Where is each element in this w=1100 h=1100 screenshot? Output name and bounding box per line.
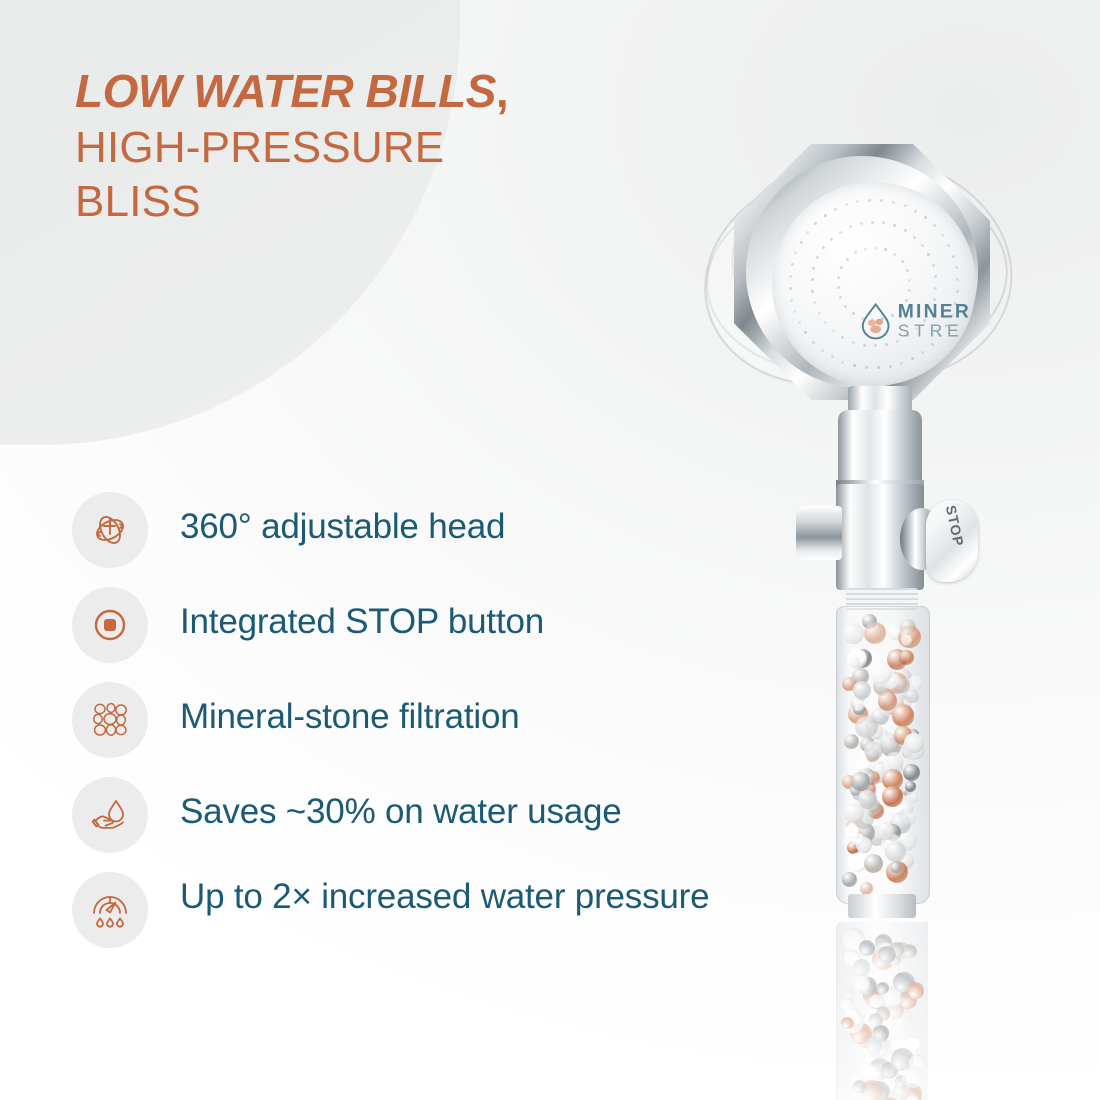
headline-line-2: HIGH-PRESSURE xyxy=(75,126,595,170)
headline-line-1: LOW WATER BILLS, xyxy=(75,68,595,114)
page-title: LOW WATER BILLS, HIGH-PRESSURE BLISS xyxy=(75,68,595,234)
feature-label: 360° adjustable head xyxy=(180,492,505,549)
feature-item-mineral-filtration: Mineral-stone filtration xyxy=(72,682,762,758)
cartridge-tube xyxy=(836,606,930,904)
infographic-canvas: LOW WATER BILLS, HIGH-PRESSURE BLISS 360… xyxy=(0,0,1100,1100)
rotate-360-icon xyxy=(72,492,148,568)
chrome-inner-ring: MINERAL STREAM xyxy=(746,156,978,388)
hand-waterdrop-icon xyxy=(72,777,148,853)
stop-button-icon xyxy=(72,587,148,663)
product-image: MINERAL STREAM STOP xyxy=(660,110,1080,1100)
feature-label: Saves ~30% on water usage xyxy=(180,777,622,834)
valve-upper-body xyxy=(838,410,922,488)
feature-label: Integrated STOP button xyxy=(180,587,544,644)
brand-logo: MINERAL STREAM xyxy=(860,302,976,341)
shower-head: MINERAL STREAM xyxy=(700,128,1000,418)
stop-button-control[interactable]: STOP xyxy=(900,500,976,582)
feature-item-360-head: 360° adjustable head xyxy=(72,492,762,568)
surface-reflection xyxy=(836,922,928,1100)
stop-paddle[interactable]: STOP xyxy=(926,500,978,582)
stop-knob-label: STOP xyxy=(943,504,967,548)
feature-label: Up to 2× increased water pressure xyxy=(180,872,709,919)
headline-comma: , xyxy=(496,65,508,117)
brand-name-line-1: MINERAL xyxy=(898,302,976,321)
nozzle-holes xyxy=(772,182,976,386)
feature-label: Mineral-stone filtration xyxy=(180,682,520,739)
spray-faceplate: MINERAL STREAM xyxy=(772,182,976,386)
chrome-bezel: MINERAL STREAM xyxy=(734,144,990,400)
feature-item-stop-button: Integrated STOP button xyxy=(72,587,762,663)
feature-list: 360° adjustable head Integrated STOP but… xyxy=(72,492,762,967)
water-drop-logo-icon xyxy=(860,303,891,340)
reflection-tube xyxy=(836,920,930,1100)
cartridge-base xyxy=(848,894,916,918)
headline-line-3: BLISS xyxy=(75,180,595,224)
mineral-filter-cartridge xyxy=(836,588,928,918)
brand-name-line-2: STREAM xyxy=(898,323,976,340)
feature-item-water-saving: Saves ~30% on water usage xyxy=(72,777,762,853)
side-knob[interactable] xyxy=(796,506,842,560)
feature-item-water-pressure: Up to 2× increased water pressure xyxy=(72,872,762,948)
pressure-gauge-icon xyxy=(72,872,148,948)
mineral-stones-icon xyxy=(72,682,148,758)
